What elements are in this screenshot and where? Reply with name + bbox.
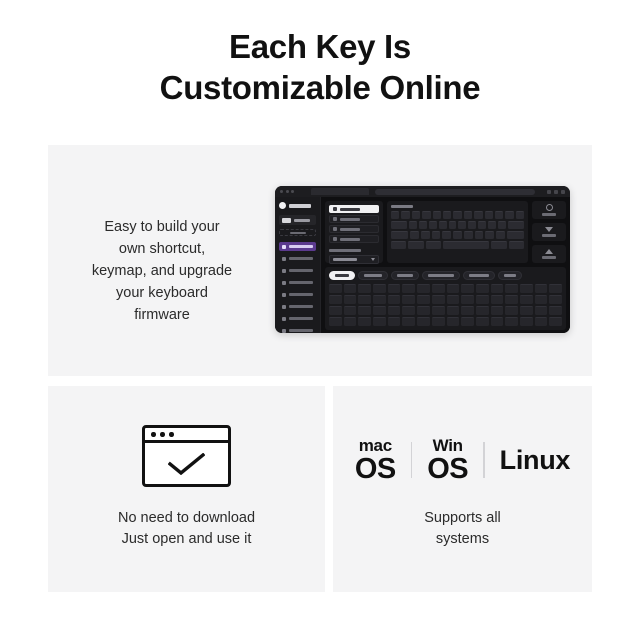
palette-key[interactable] <box>549 284 562 293</box>
palette-key[interactable] <box>432 284 445 293</box>
palette-key[interactable] <box>447 306 460 315</box>
keycap[interactable] <box>433 211 441 219</box>
sidebar-item-key-test[interactable] <box>279 302 316 311</box>
palette-key[interactable] <box>491 284 504 293</box>
keycap[interactable] <box>453 231 462 239</box>
window-dot-icon <box>169 432 174 437</box>
os-windows-prefix: Win <box>433 437 463 454</box>
window-dot-icon <box>151 432 156 437</box>
palette-key[interactable] <box>388 284 401 293</box>
palette-key[interactable] <box>432 317 445 326</box>
keycap[interactable] <box>496 231 505 239</box>
palette-key[interactable] <box>535 295 548 304</box>
sidebar-item-keymap[interactable] <box>279 242 316 251</box>
keycap[interactable] <box>475 231 484 239</box>
palette-key[interactable] <box>402 295 415 304</box>
os-windows: Win OS <box>427 437 468 484</box>
window-minimize-dot-icon[interactable] <box>286 190 289 193</box>
key-palette-row <box>329 306 562 315</box>
keycap[interactable] <box>458 221 466 229</box>
palette-key[interactable] <box>535 317 548 326</box>
browser-window-check-icon <box>142 425 231 487</box>
keycap[interactable] <box>509 241 524 249</box>
keycap[interactable] <box>507 231 524 239</box>
palette-key[interactable] <box>402 284 415 293</box>
os-macos-prefix: mac <box>359 437 392 454</box>
page-title-line-1: Each Key Is <box>0 26 640 67</box>
palette-key[interactable] <box>417 306 430 315</box>
keycap[interactable] <box>453 211 461 219</box>
palette-key[interactable] <box>388 295 401 304</box>
feature-panel-no-download <box>48 386 325 592</box>
keycap[interactable] <box>464 231 473 239</box>
key-palette-row <box>329 284 562 293</box>
palette-key[interactable] <box>549 295 562 304</box>
quick-swap-icon <box>282 269 286 273</box>
layer-label <box>340 208 360 211</box>
top-copy-line-2: own shortcut, <box>62 238 262 260</box>
action-rail <box>532 201 566 263</box>
os-windows-suffix: OS <box>427 455 468 484</box>
keycap[interactable] <box>421 231 430 239</box>
palette-key[interactable] <box>432 306 445 315</box>
keychron-logo-icon <box>279 202 286 209</box>
no-download-line-1: No need to download <box>58 508 315 529</box>
window-controls[interactable] <box>280 190 294 193</box>
app-main-content <box>321 197 570 333</box>
download-icon <box>545 227 553 232</box>
keycap-spacebar[interactable] <box>443 241 489 249</box>
os-divider <box>411 442 413 478</box>
keyboard-preview[interactable] <box>387 201 528 263</box>
tab-label <box>364 274 382 277</box>
palette-key[interactable] <box>476 284 489 293</box>
os-logo-row: mac OS Win OS Linux <box>333 430 592 490</box>
page-title-line-2: Customizable Online <box>0 67 640 108</box>
no-download-line-2: Just open and use it <box>58 529 315 550</box>
keycap[interactable] <box>505 211 513 219</box>
layout-language-label <box>329 249 361 252</box>
os-divider <box>483 442 485 478</box>
palette-key[interactable] <box>491 295 504 304</box>
sidebar-item-advanced-mode[interactable] <box>279 326 316 333</box>
device-name-label <box>294 219 310 222</box>
top-copy-line-5: firmware <box>62 304 262 326</box>
palette-key[interactable] <box>329 317 342 326</box>
palette-key[interactable] <box>417 295 430 304</box>
layer-label <box>340 238 360 241</box>
os-macos-suffix: OS <box>355 455 396 484</box>
key-palette-row <box>329 317 562 326</box>
top-copy-line-1: Easy to build your <box>62 216 262 238</box>
palette-key[interactable] <box>373 284 386 293</box>
connect-device-label <box>290 232 306 234</box>
palette-key[interactable] <box>461 306 474 315</box>
keycap[interactable] <box>464 211 472 219</box>
supports-line-2: systems <box>333 529 592 550</box>
palette-key[interactable] <box>520 317 533 326</box>
keycap[interactable] <box>432 231 441 239</box>
browser-toolbar-actions[interactable] <box>547 190 565 194</box>
app-body <box>275 197 570 333</box>
keycap[interactable] <box>468 221 476 229</box>
palette-key[interactable] <box>417 317 430 326</box>
tab-media[interactable] <box>358 271 388 280</box>
keycap[interactable] <box>409 221 417 229</box>
palette-key[interactable] <box>505 295 518 304</box>
tab-label <box>504 274 516 277</box>
palette-key[interactable] <box>535 306 548 315</box>
upload-icon <box>545 249 553 254</box>
keycap[interactable] <box>410 231 419 239</box>
sidebar-item-firmware-update[interactable] <box>279 278 316 287</box>
palette-key[interactable] <box>549 306 562 315</box>
save-button[interactable] <box>532 223 566 241</box>
keycap[interactable] <box>488 221 496 229</box>
menu-icon[interactable] <box>561 190 565 194</box>
tab-basic[interactable] <box>329 271 355 280</box>
tab-label <box>397 274 413 277</box>
keycap[interactable] <box>422 211 430 219</box>
keycap[interactable] <box>508 221 524 229</box>
palette-key[interactable] <box>520 284 533 293</box>
key-picker-tabs <box>329 271 562 280</box>
layer-label <box>340 228 360 231</box>
palette-key[interactable] <box>476 317 489 326</box>
keyboard-preview-rows <box>391 211 524 249</box>
sidebar-item-label <box>289 257 313 260</box>
feature-panel-top-copy: Easy to build your own shortcut, keymap,… <box>62 216 262 326</box>
layer-option-3[interactable] <box>329 235 379 243</box>
palette-key[interactable] <box>549 317 562 326</box>
palette-key[interactable] <box>535 284 548 293</box>
window-close-dot-icon[interactable] <box>280 190 283 193</box>
top-copy-line-4: your keyboard <box>62 282 262 304</box>
palette-key[interactable] <box>402 306 415 315</box>
palette-key[interactable] <box>329 295 342 304</box>
reset-label <box>542 213 556 216</box>
palette-key[interactable] <box>505 317 518 326</box>
palette-key[interactable] <box>373 306 386 315</box>
reset-button[interactable] <box>532 201 566 219</box>
palette-key[interactable] <box>344 306 357 315</box>
palette-key[interactable] <box>417 284 430 293</box>
layers-card <box>325 201 383 263</box>
marketing-infographic: Each Key Is Customizable Online Easy to … <box>0 0 640 640</box>
windows-functions-icon <box>282 293 286 297</box>
key-palette <box>329 284 562 326</box>
firmware-icon <box>282 281 286 285</box>
sidebar-item-label <box>289 317 313 320</box>
tab-label <box>335 274 349 277</box>
layer-icon <box>333 237 337 241</box>
keycap[interactable] <box>495 211 503 219</box>
layer-icon <box>333 217 337 221</box>
palette-key[interactable] <box>461 284 474 293</box>
keycap[interactable] <box>412 211 420 219</box>
layer-icon <box>333 207 337 211</box>
supports-all-systems-copy: Supports all systems <box>333 508 592 550</box>
sidebar-item-label <box>289 305 313 308</box>
browser-title-bar <box>275 186 570 197</box>
keycap[interactable] <box>439 221 447 229</box>
palette-key[interactable] <box>344 295 357 304</box>
keycap[interactable] <box>491 241 506 249</box>
palette-key[interactable] <box>476 295 489 304</box>
keycap[interactable] <box>498 221 506 229</box>
palette-key[interactable] <box>447 295 460 304</box>
top-copy-line-3: keymap, and upgrade <box>62 260 262 282</box>
palette-key[interactable] <box>358 306 371 315</box>
key-palette-row <box>329 295 562 304</box>
layer-label <box>340 218 360 221</box>
brand-logo <box>279 202 316 209</box>
browser-tab[interactable] <box>311 188 369 195</box>
layer-option-2[interactable] <box>329 225 379 233</box>
palette-key[interactable] <box>505 284 518 293</box>
palette-key[interactable] <box>505 306 518 315</box>
sidebar-item-label <box>289 281 313 284</box>
reset-icon <box>546 204 553 211</box>
sidebar-item-label <box>289 329 313 332</box>
keymap-icon <box>282 245 286 249</box>
layout-language-value <box>333 258 357 261</box>
keycap[interactable] <box>485 211 493 219</box>
keycap[interactable] <box>485 231 494 239</box>
palette-key[interactable] <box>344 317 357 326</box>
keyboard-row <box>391 221 524 229</box>
tab-label <box>428 274 454 277</box>
brand-name-label <box>289 204 311 208</box>
keycap[interactable] <box>474 211 482 219</box>
extensions-icon[interactable] <box>547 190 551 194</box>
keyboard-row <box>391 231 524 239</box>
device-selector[interactable] <box>279 215 316 225</box>
palette-key[interactable] <box>476 306 489 315</box>
layout-language-select[interactable] <box>329 255 379 264</box>
no-download-copy: No need to download Just open and use it <box>58 508 315 550</box>
import-button[interactable] <box>532 245 566 263</box>
sidebar-item-quick-swap[interactable] <box>279 266 316 275</box>
window-dot-icon <box>160 432 165 437</box>
sidebar-item-label <box>289 269 313 272</box>
save-label <box>542 234 556 237</box>
palette-key[interactable] <box>358 284 371 293</box>
layer-option-0[interactable] <box>329 205 379 213</box>
supports-line-1: Supports all <box>333 508 592 529</box>
keycap[interactable] <box>391 221 407 229</box>
keycap[interactable] <box>449 221 457 229</box>
palette-key[interactable] <box>491 317 504 326</box>
keyboard-preview-title <box>391 205 413 208</box>
advanced-mode-icon <box>282 329 286 333</box>
tab-lighting[interactable] <box>463 271 495 280</box>
page-title: Each Key Is Customizable Online <box>0 26 640 108</box>
keycap[interactable] <box>478 221 486 229</box>
import-label <box>542 256 556 259</box>
tab-special-action[interactable] <box>422 271 460 280</box>
keyboard-row <box>391 241 524 249</box>
app-sidebar <box>275 197 321 333</box>
palette-key[interactable] <box>388 306 401 315</box>
tab-label <box>469 274 489 277</box>
palette-key[interactable] <box>461 295 474 304</box>
key-test-icon <box>282 305 286 309</box>
checkmark-icon <box>168 453 205 475</box>
palette-key[interactable] <box>373 295 386 304</box>
palette-key[interactable] <box>432 295 445 304</box>
keycap[interactable] <box>401 211 409 219</box>
address-bar[interactable] <box>375 189 535 195</box>
keycap[interactable] <box>443 211 451 219</box>
layer-option-1[interactable] <box>329 215 379 223</box>
sidebar-item-layer-visualiser[interactable] <box>279 314 316 323</box>
palette-key[interactable] <box>358 317 371 326</box>
palette-key[interactable] <box>520 295 533 304</box>
palette-key[interactable] <box>329 306 342 315</box>
keycap[interactable] <box>391 241 406 249</box>
palette-key[interactable] <box>329 284 342 293</box>
key-picker-panel <box>325 267 566 330</box>
connect-device-button[interactable] <box>279 229 316 236</box>
keycap[interactable] <box>391 231 408 239</box>
sidebar-item-label <box>289 245 313 248</box>
os-linux: Linux <box>500 447 571 474</box>
keycap[interactable] <box>429 221 437 229</box>
layer-icon <box>333 227 337 231</box>
launcher-app-screenshot <box>275 186 570 333</box>
os-macos: mac OS <box>355 437 396 484</box>
profile-icon[interactable] <box>554 190 558 194</box>
os-linux-label: Linux <box>500 447 571 474</box>
tab-macro[interactable] <box>391 271 419 280</box>
device-thumbnail-icon <box>282 218 291 223</box>
sidebar-item-windows-functions[interactable] <box>279 290 316 299</box>
palette-key[interactable] <box>520 306 533 315</box>
palette-key[interactable] <box>388 317 401 326</box>
palette-key[interactable] <box>461 317 474 326</box>
palette-key[interactable] <box>402 317 415 326</box>
palette-key[interactable] <box>358 295 371 304</box>
sidebar-item-layers[interactable] <box>279 254 316 263</box>
keycap[interactable] <box>516 211 524 219</box>
keyboard-row <box>391 211 524 219</box>
layer-visualiser-icon <box>282 317 286 321</box>
keycap[interactable] <box>408 241 423 249</box>
tab-layer[interactable] <box>498 271 522 280</box>
window-maximize-dot-icon[interactable] <box>291 190 294 193</box>
keycap[interactable] <box>442 231 451 239</box>
palette-key[interactable] <box>447 284 460 293</box>
keycap[interactable] <box>426 241 441 249</box>
keycap[interactable] <box>419 221 427 229</box>
chevron-down-icon <box>371 258 375 261</box>
palette-key[interactable] <box>491 306 504 315</box>
palette-key[interactable] <box>373 317 386 326</box>
palette-key[interactable] <box>447 317 460 326</box>
layers-icon <box>282 257 286 261</box>
main-top-row <box>325 201 566 263</box>
keycap[interactable] <box>391 211 399 219</box>
sidebar-item-label <box>289 293 313 296</box>
palette-key[interactable] <box>344 284 357 293</box>
